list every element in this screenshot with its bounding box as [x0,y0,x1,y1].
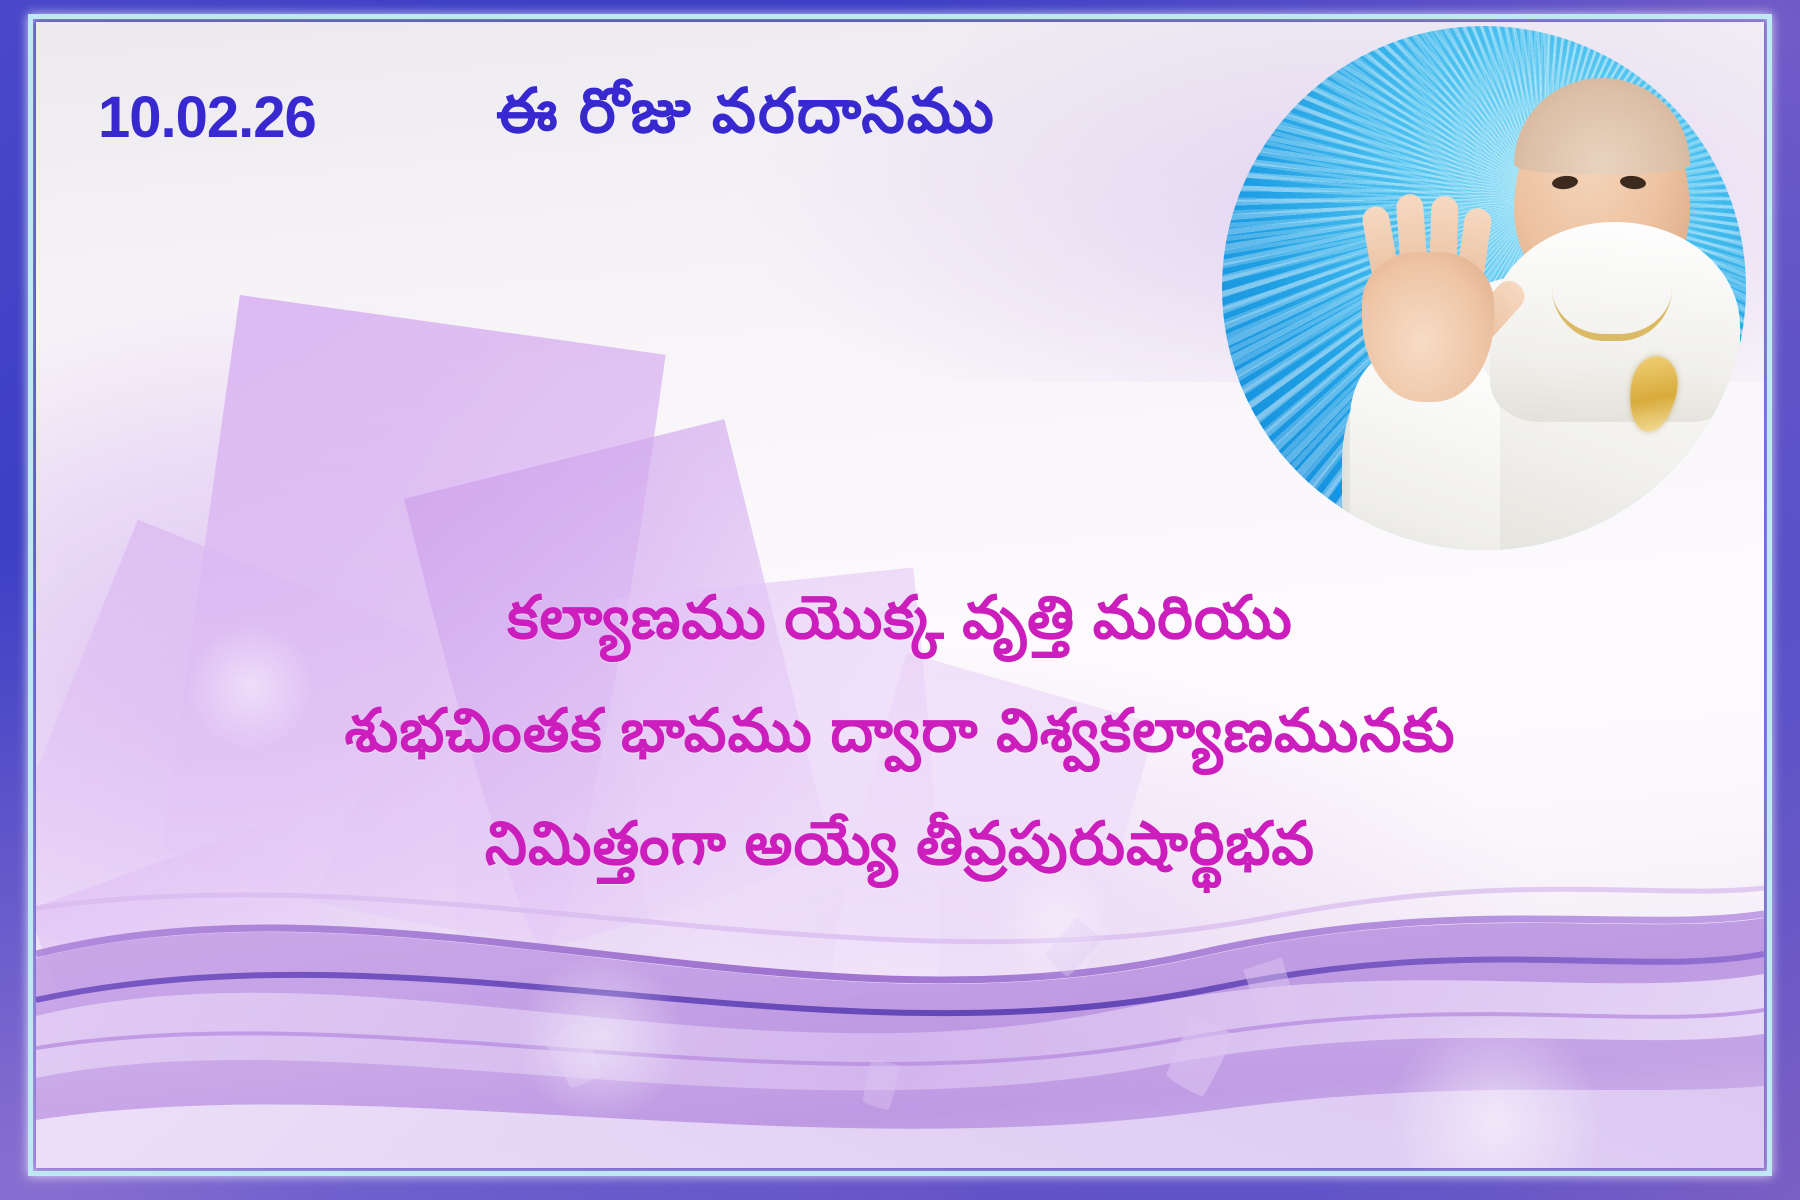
message-line: కల్యాణము యొక్క వృత్తి మరియు [36,562,1764,675]
artwork-card: 10.02.26 ఈ రోజు వరదానము [36,22,1764,1168]
message-line: శుభచింతక భావము ద్వారా విశ్వకల్యాణమునకు [36,675,1764,788]
glow-spot [516,952,686,1122]
figure-illustration [1222,26,1746,550]
glow-spot [1386,1012,1606,1168]
greeting-slide: 10.02.26 ఈ రోజు వరదానము [0,0,1800,1200]
blessing-message: కల్యాణము యొక్క వృత్తి మరియు శుభచింతక భావ… [36,562,1764,900]
figure-raised-hand [1362,252,1494,402]
leaf-fleck [1043,917,1102,979]
leaf-fleck [862,1059,901,1110]
message-line: నిమిత్తంగా అయ్యే తీవ్రపురుషార్థిభవ [36,788,1764,901]
page-title: ఈ రోజు వరదానము [496,76,996,162]
dadi-portrait-photo [1222,26,1746,550]
leaf-fleck [1164,1016,1234,1099]
date-label: 10.02.26 [98,84,316,151]
leaf-fleck [544,1022,606,1091]
figure-hair [1514,78,1690,174]
leaf-fleck [1243,957,1300,1028]
